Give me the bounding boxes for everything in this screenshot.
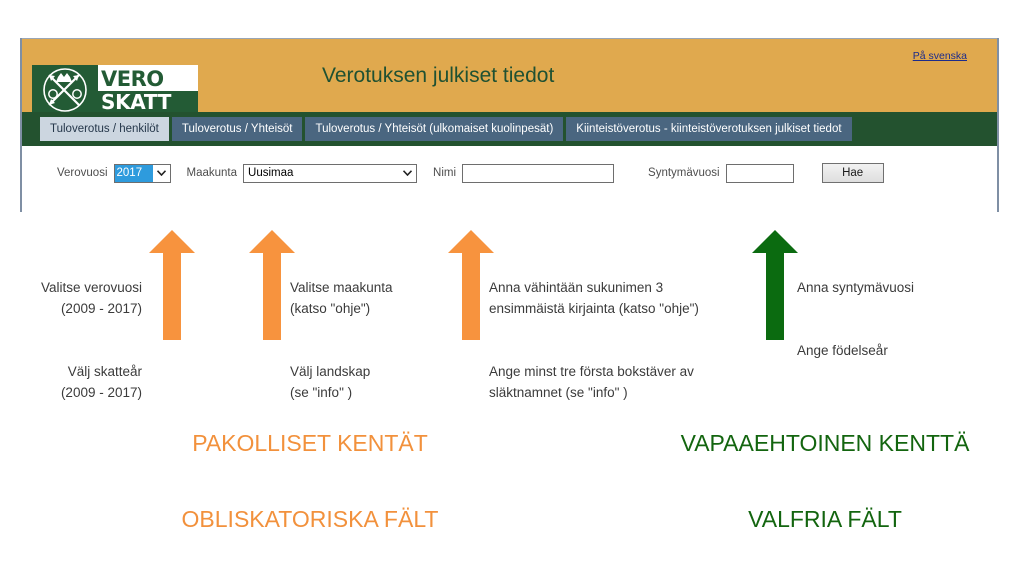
caption-optional-sv: VALFRIA FÄLT xyxy=(628,500,1022,538)
search-form-row: Verovuosi 2017 Maakunta Uusimaa Nimi Syn… xyxy=(57,163,884,183)
syntymavuosi-input[interactable] xyxy=(726,164,794,183)
annotation-arrow-maakunta xyxy=(249,230,295,340)
caption-optional-fi: VAPAAEHTOINEN KENTTÄ xyxy=(628,424,1022,462)
caption-required-sv: OBLISKATORISKA FÄLT xyxy=(100,500,520,538)
maakunta-select-value: Uusimaa xyxy=(244,165,399,182)
logo-wordmark: VERO SKATT xyxy=(98,65,198,115)
note-text-sv: Ange födelseår xyxy=(797,340,997,361)
annotation-arrow-syntymavuosi xyxy=(752,230,798,340)
tab-tuloverotus-henkilot[interactable]: Tuloverotus / henkilöt xyxy=(40,117,169,141)
vero-crest-icon xyxy=(32,65,98,115)
caption-required-fields: PAKOLLISET KENTÄT OBLISKATORISKA FÄLT xyxy=(100,386,520,576)
verovuosi-select-value: 2017 xyxy=(115,165,153,182)
chevron-down-icon xyxy=(399,165,416,182)
tab-bar: Tuloverotus / henkilöt Tuloverotus / Yht… xyxy=(22,112,997,146)
site-header: VERO SKATT Verotuksen julkiset tiedot På… xyxy=(22,38,997,112)
label-maakunta: Maakunta xyxy=(187,167,238,179)
note-text-fi: Valitse verovuosi (2009 - 2017) xyxy=(8,277,142,319)
note-text-fi: Anna vähintään sukunimen 3 ensimmäistä k… xyxy=(489,277,751,319)
chevron-down-icon xyxy=(153,165,170,182)
link-pa-svenska[interactable]: På svenska xyxy=(913,50,967,62)
annotation-note-syntymavuosi: Anna syntymävuosi Ange födelseår xyxy=(797,256,997,382)
search-form-area: Verovuosi 2017 Maakunta Uusimaa Nimi Syn… xyxy=(22,146,997,212)
logo-text-skatt: SKATT xyxy=(98,91,198,113)
tab-tuloverotus-yhteisot[interactable]: Tuloverotus / Yhteisöt xyxy=(172,117,303,141)
tab-kiinteistoverotus[interactable]: Kiinteistöverotus - kiinteistöverotuksen… xyxy=(566,117,851,141)
page-title: Verotuksen julkiset tiedot xyxy=(322,64,554,88)
caption-required-fi: PAKOLLISET KENTÄT xyxy=(100,424,520,462)
tab-tuloverotus-yhteisot-ulkomaiset[interactable]: Tuloverotus / Yhteisöt (ulkomaiset kuoli… xyxy=(305,117,563,141)
browser-page-container: VERO SKATT Verotuksen julkiset tiedot På… xyxy=(20,38,999,212)
vero-skatt-logo[interactable]: VERO SKATT xyxy=(32,65,198,115)
label-syntymavuosi: Syntymävuosi xyxy=(648,167,720,179)
annotation-arrow-nimi xyxy=(448,230,494,340)
maakunta-select[interactable]: Uusimaa xyxy=(243,164,417,183)
note-text-fi: Anna syntymävuosi xyxy=(797,277,997,298)
nimi-input[interactable] xyxy=(462,164,614,183)
logo-text-vero: VERO xyxy=(98,69,198,90)
label-verovuosi: Verovuosi xyxy=(57,167,108,179)
verovuosi-select[interactable]: 2017 xyxy=(114,164,171,183)
annotation-arrow-verovuosi xyxy=(149,230,195,340)
caption-optional-fields: VAPAAEHTOINEN KENTTÄ VALFRIA FÄLT xyxy=(628,386,1022,576)
search-submit-button[interactable]: Hae xyxy=(822,163,884,183)
note-text-fi: Valitse maakunta (katso "ohje") xyxy=(290,277,440,319)
label-nimi: Nimi xyxy=(433,167,456,179)
